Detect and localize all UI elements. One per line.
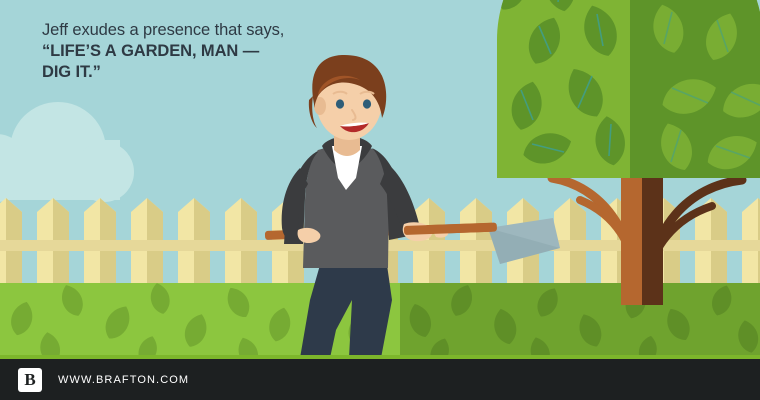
quote-emphasis-line1: “Life’s a	[42, 42, 117, 60]
character-eye-left	[336, 99, 344, 108]
quote-lead2: that says,	[215, 21, 285, 39]
grass-right	[400, 283, 760, 358]
tree-canopy	[491, 0, 760, 180]
footer-url[interactable]: WWW.BRAFTON.COM	[58, 374, 189, 386]
character-eye-right	[363, 99, 371, 108]
illustration-canvas: Jeff exudes a presence that says, “Life’…	[0, 0, 760, 400]
quote-text: Jeff exudes a presence that says, “Life’…	[42, 20, 292, 83]
tree-trunk-light	[621, 160, 642, 305]
tree-trunk-dark	[642, 160, 663, 305]
brafton-logo[interactable]: B	[18, 368, 42, 392]
quote-lead: Jeff exudes a presence	[42, 21, 210, 39]
footer-bar: B WWW.BRAFTON.COM	[0, 355, 760, 400]
